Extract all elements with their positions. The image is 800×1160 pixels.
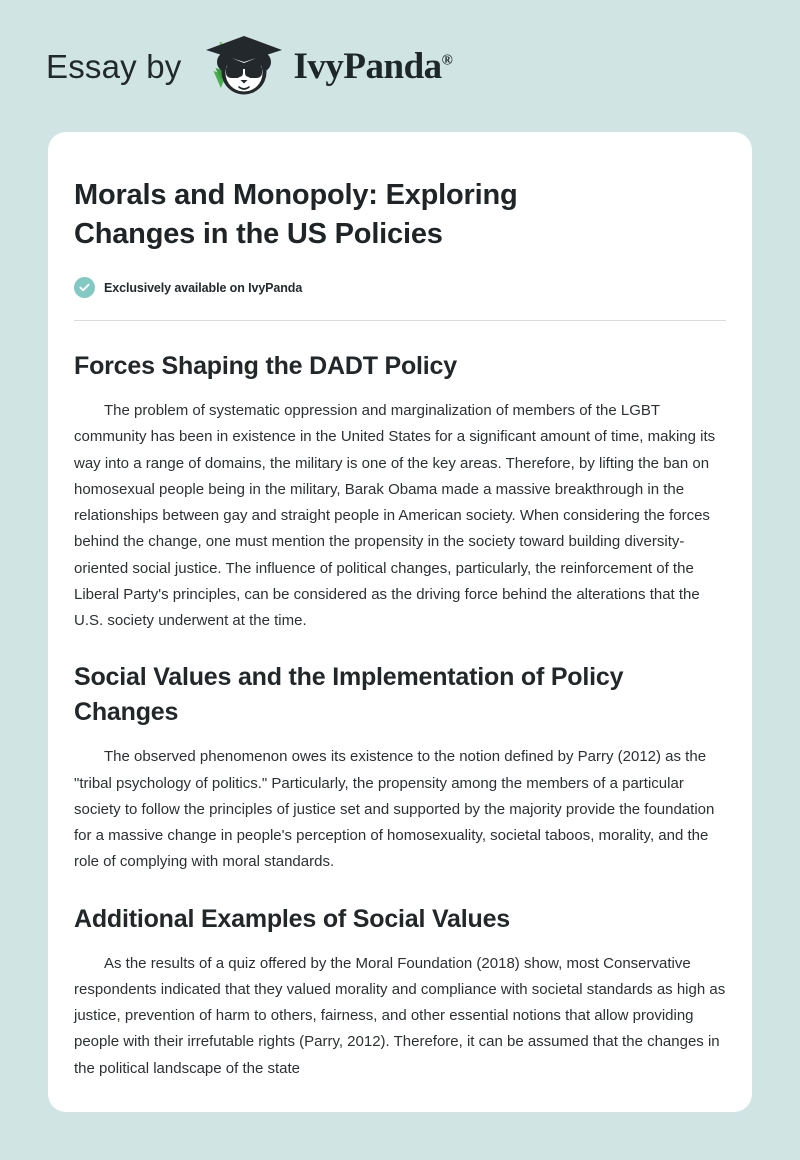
- title-divider: [74, 320, 726, 321]
- page-title: Morals and Monopoly: Exploring Changes i…: [74, 176, 634, 253]
- ivypanda-logo-link[interactable]: IvyPanda®: [196, 30, 453, 102]
- section-heading-social-values-implementation: Social Values and the Implementation of …: [74, 660, 674, 730]
- brand-header: Essay by: [0, 0, 800, 132]
- wordmark-text: IvyPanda: [294, 46, 442, 87]
- section-paragraph: As the results of a quiz offered by the …: [74, 951, 726, 1082]
- section-paragraph: The problem of systematic oppression and…: [74, 398, 726, 634]
- ivypanda-wordmark: IvyPanda®: [294, 48, 453, 85]
- panda-graduation-cap-logo-icon: [196, 30, 292, 102]
- essay-paper-card: Morals and Monopoly: Exploring Changes i…: [48, 132, 752, 1112]
- check-circle-icon: [74, 277, 95, 298]
- registered-trademark-symbol: ®: [442, 52, 453, 68]
- essay-by-label: Essay by: [46, 50, 182, 83]
- section-heading-additional-examples-social-values: Additional Examples of Social Values: [74, 902, 674, 937]
- section-heading-forces-shaping-dadt-policy: Forces Shaping the DADT Policy: [74, 349, 674, 384]
- exclusive-availability-label: Exclusively available on IvyPanda: [104, 281, 302, 295]
- section-paragraph: The observed phenomenon owes its existen…: [74, 744, 726, 875]
- status-badge: Exclusively available on IvyPanda: [74, 277, 726, 298]
